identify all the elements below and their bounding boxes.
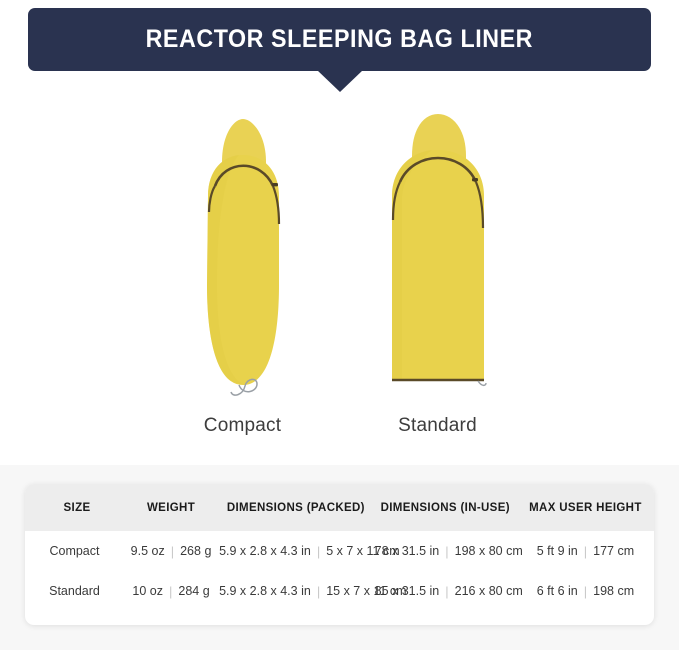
height-metric: 177 cm: [593, 544, 634, 558]
column-header-weight: WEIGHT: [124, 484, 218, 531]
spec-table: SIZE WEIGHT DIMENSIONS (PACKED) DIMENSIO…: [25, 484, 654, 611]
cell-weight: 9.5 oz | 268 g: [124, 531, 218, 571]
standard-sleeping-bag-liner-illustration: [368, 100, 508, 410]
header-banner-area: REACTOR SLEEPING BAG LINER: [0, 0, 679, 100]
cell-dimensions-packed: 5.9 x 2.8 x 4.3 in | 15 x 7 x 11 cm: [218, 571, 374, 611]
height-metric: 198 cm: [593, 584, 634, 598]
unit-separator: |: [445, 545, 448, 558]
compact-caption: Compact: [160, 415, 325, 437]
column-header-max-user-height: MAX USER HEIGHT: [517, 484, 654, 531]
cell-max-user-height: 6 ft 6 in | 198 cm: [517, 571, 654, 611]
cell-size: Compact: [25, 531, 124, 571]
cell-dimensions-in-use: 78 x 31.5 in | 198 x 80 cm: [374, 531, 517, 571]
spec-table-header-row: SIZE WEIGHT DIMENSIONS (PACKED) DIMENSIO…: [25, 484, 654, 531]
unit-separator: |: [317, 585, 320, 598]
spec-table-card: SIZE WEIGHT DIMENSIONS (PACKED) DIMENSIO…: [25, 484, 654, 625]
height-imperial: 6 ft 6 in: [537, 584, 578, 598]
unit-separator: |: [584, 545, 587, 558]
compact-sleeping-bag-liner-illustration: [173, 100, 313, 410]
cell-dimensions-packed: 5.9 x 2.8 x 4.3 in | 5 x 7 x 11 cm: [218, 531, 374, 571]
table-row: Standard 10 oz | 284 g 5.9 x 2.8 x 4.3 i…: [25, 571, 654, 611]
standard-body: [392, 150, 484, 381]
column-header-size: SIZE: [25, 484, 124, 531]
product-illustration-stage: Compact Standard: [0, 100, 679, 465]
column-header-dimensions-in-use: DIMENSIONS (IN-USE): [374, 484, 517, 531]
unit-separator: |: [317, 545, 320, 558]
standard-caption: Standard: [355, 415, 520, 437]
standard-bottom-cord: [478, 381, 486, 385]
weight-imperial: 10 oz: [132, 584, 163, 598]
product-standard: Standard: [355, 100, 520, 410]
unit-separator: |: [584, 585, 587, 598]
inuse-metric: 216 x 80 cm: [455, 584, 523, 598]
spec-table-header: SIZE WEIGHT DIMENSIONS (PACKED) DIMENSIO…: [25, 484, 654, 531]
table-row: Compact 9.5 oz | 268 g 5.9 x 2.8 x 4.3 i…: [25, 531, 654, 571]
banner-pointer-triangle: [317, 70, 363, 92]
column-header-dimensions-packed: DIMENSIONS (PACKED): [218, 484, 374, 531]
cell-size: Standard: [25, 571, 124, 611]
packed-imperial: 5.9 x 2.8 x 4.3 in: [219, 584, 311, 598]
page-title: REACTOR SLEEPING BAG LINER: [146, 25, 533, 54]
header-banner: REACTOR SLEEPING BAG LINER: [28, 8, 651, 71]
unit-separator: |: [445, 585, 448, 598]
height-imperial: 5 ft 9 in: [537, 544, 578, 558]
inuse-imperial: 85 x 31.5 in: [375, 584, 440, 598]
product-compact: Compact: [160, 100, 325, 410]
spec-table-body: Compact 9.5 oz | 268 g 5.9 x 2.8 x 4.3 i…: [25, 531, 654, 611]
compact-drawcord-tab: [272, 183, 278, 186]
inuse-imperial: 78 x 31.5 in: [375, 544, 440, 558]
unit-separator: |: [171, 545, 174, 558]
standard-drawcord-tab: [472, 178, 478, 181]
unit-separator: |: [169, 585, 172, 598]
cell-weight: 10 oz | 284 g: [124, 571, 218, 611]
inuse-metric: 198 x 80 cm: [455, 544, 523, 558]
weight-imperial: 9.5 oz: [131, 544, 165, 558]
cell-dimensions-in-use: 85 x 31.5 in | 216 x 80 cm: [374, 571, 517, 611]
weight-metric: 284 g: [178, 584, 209, 598]
packed-imperial: 5.9 x 2.8 x 4.3 in: [219, 544, 311, 558]
weight-metric: 268 g: [180, 544, 211, 558]
cell-max-user-height: 5 ft 9 in | 177 cm: [517, 531, 654, 571]
